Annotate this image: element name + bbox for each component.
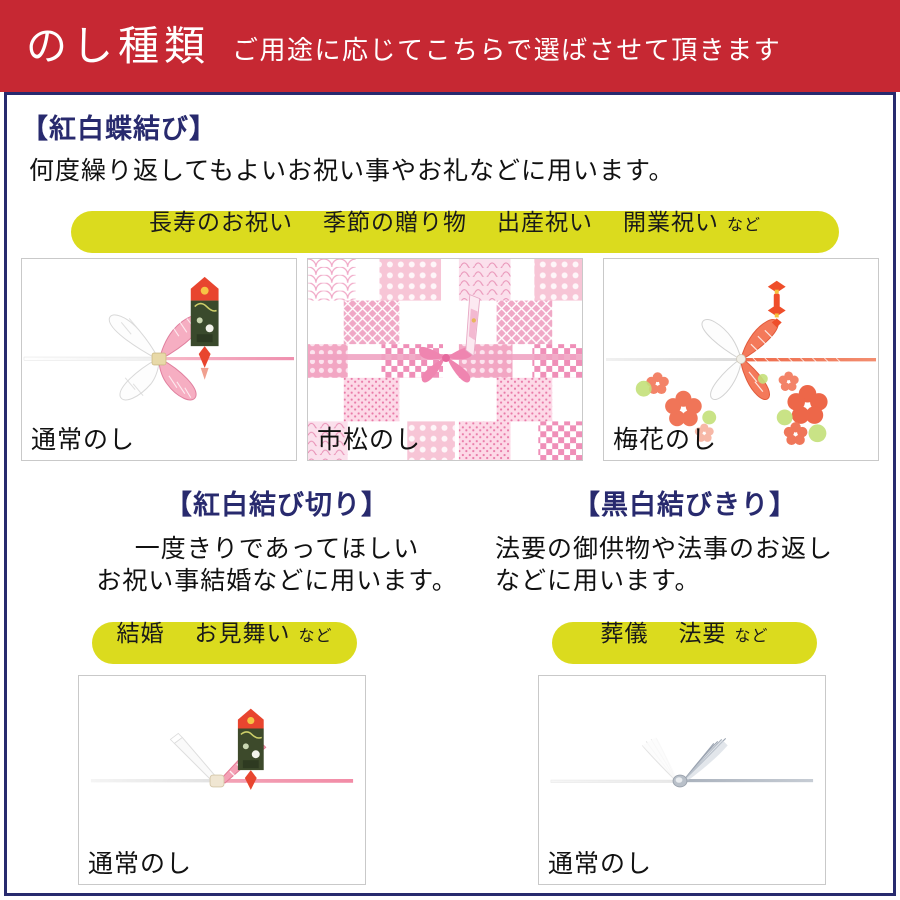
content-frame: 【紅白蝶結び】 何度繰り返してもよいお祝い事やお礼などに用います。 長寿のお祝い…: [4, 92, 896, 896]
page-title: のし種類: [26, 26, 210, 67]
page-root: のし種類 ご用途に応じてこちらで選ばさせて頂きます 【紅白蝶結び】 何度繰り返し…: [0, 0, 900, 900]
pill-tag: 結婚: [117, 622, 165, 645]
noshi-card-tsujo-musubikiri-kohaku[interactable]: 通常のし: [78, 675, 366, 885]
section-title: 【紅白蝶結び】: [21, 107, 881, 146]
pill-etc-label: など: [734, 629, 768, 645]
section-musubikiri-kohaku: 【紅白結び切り】 一度きりであってほしい お祝い事結婚などに用います。: [87, 483, 467, 598]
page-header: のし種類 ご用途に応じてこちらで選ばさせて頂きます: [0, 0, 900, 92]
noshi-card-label: 通常のし: [31, 420, 135, 456]
pill-etc-label: など: [727, 218, 761, 234]
section-musubikiri-kokuhaku: 【黒白結びきり】 法要の御供物や法事のお返し などに用います。: [485, 483, 885, 598]
pill-tag: 長寿のお祝い: [149, 211, 293, 234]
noshi-card-label: 市松のし: [317, 420, 421, 456]
noshi-card-label: 梅花のし: [613, 420, 717, 456]
section-description-line: 何度繰り返してもよいお祝い事やお礼などに用います。: [29, 156, 881, 188]
section-description-line: お祝い事結婚などに用います。: [87, 566, 467, 598]
usage-pill-musubikiri-kokuhaku: 葬儀 法要 など: [552, 622, 817, 664]
noshi-card-ichimatsu[interactable]: 市松のし: [307, 258, 583, 461]
section-description-line: 法要の御供物や法事のお返し: [495, 534, 885, 566]
section-title: 【黒白結びきり】: [485, 483, 885, 522]
page-subtitle: ご用途に応じてこちらで選ばさせて頂きます: [232, 30, 781, 67]
noshi-card-tsujo-musubikiri-kokuhaku[interactable]: 通常のし: [538, 675, 826, 885]
noshi-card-tsujo-chochomusubi[interactable]: 通常のし: [21, 258, 297, 461]
pill-etc-label: など: [299, 629, 333, 645]
section-chochomusubi: 【紅白蝶結び】 何度繰り返してもよいお祝い事やお礼などに用います。: [21, 107, 881, 188]
noshi-card-label: 通常のし: [88, 844, 192, 880]
noshi-card-label: 通常のし: [548, 844, 652, 880]
pill-tag: 季節の贈り物: [323, 211, 467, 234]
pill-tag: 開業祝い: [623, 211, 719, 234]
pill-tag: 葬儀: [600, 622, 648, 645]
usage-pill-chochomusubi: 長寿のお祝い 季節の贈り物 出産祝い 開業祝い など: [71, 211, 839, 253]
pill-tag: 法要: [678, 622, 726, 645]
usage-pill-musubikiri-kohaku: 結婚 お見舞い など: [92, 622, 357, 664]
section-description-line: などに用います。: [495, 566, 885, 598]
pill-tag: 出産祝い: [497, 211, 593, 234]
section-description-line: 一度きりであってほしい: [87, 534, 467, 566]
pill-tag: お見舞い: [195, 622, 291, 645]
noshi-card-baika[interactable]: 梅花のし: [603, 258, 879, 461]
section-title: 【紅白結び切り】: [87, 483, 467, 522]
